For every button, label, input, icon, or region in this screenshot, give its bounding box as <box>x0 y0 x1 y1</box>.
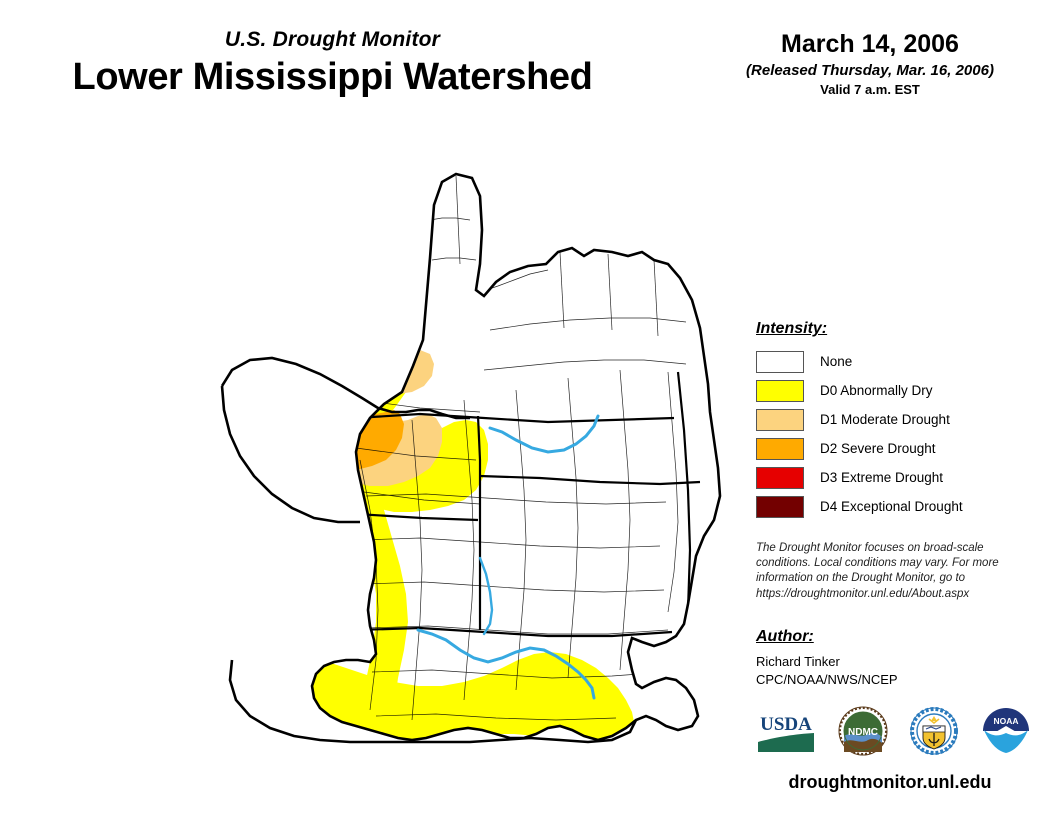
swatch-d0 <box>756 380 804 402</box>
noaa-logo[interactable]: NOAA <box>981 706 1031 761</box>
author-affiliation: CPC/NOAA/NWS/NCEP <box>756 671 1018 689</box>
legend-title: Intensity: <box>756 320 1026 338</box>
d4-region <box>226 370 256 418</box>
footer-url[interactable]: droughtmonitor.unl.edu <box>740 772 1040 793</box>
legend-label-none: None <box>820 354 852 369</box>
header-right: March 14, 2006 (Released Thursday, Mar. … <box>700 30 1040 97</box>
author-block: Author: Richard Tinker CPC/NOAA/NWS/NCEP <box>756 628 1018 688</box>
drought-monitor-page: U.S. Drought Monitor Lower Mississippi W… <box>0 0 1056 816</box>
svg-text:NOAA: NOAA <box>993 716 1018 726</box>
author-title: Author: <box>756 628 1018 646</box>
swatch-d4 <box>756 496 804 518</box>
swatch-d2 <box>756 438 804 460</box>
header-subtitle: U.S. Drought Monitor <box>0 28 665 52</box>
western-lobe-outline-south <box>222 386 360 522</box>
legend-label-d3: D3 Extreme Drought <box>820 470 943 485</box>
legend-item-none[interactable]: None <box>756 347 1026 376</box>
partner-logos: USDA NDMC <box>756 704 1031 762</box>
legend-item-d3[interactable]: D3 Extreme Drought <box>756 463 1026 492</box>
release-date: (Released Thursday, Mar. 16, 2006) <box>700 62 1040 79</box>
header-left: U.S. Drought Monitor Lower Mississippi W… <box>0 28 665 99</box>
legend-label-d0: D0 Abnormally Dry <box>820 383 933 398</box>
swatch-d1 <box>756 409 804 431</box>
swatch-d3 <box>756 467 804 489</box>
legend-item-d1[interactable]: D1 Moderate Drought <box>756 405 1026 434</box>
usda-logo[interactable]: USDA <box>756 708 816 759</box>
map-date: March 14, 2006 <box>700 30 1040 59</box>
legend-label-d2: D2 Severe Drought <box>820 441 936 456</box>
valid-time: Valid 7 a.m. EST <box>700 82 1040 97</box>
legend-label-d4: D4 Exceptional Drought <box>820 499 963 514</box>
svg-text:NDMC: NDMC <box>848 727 878 738</box>
legend-item-d0[interactable]: D0 Abnormally Dry <box>756 376 1026 405</box>
svg-text:USDA: USDA <box>760 714 812 735</box>
legend-item-d2[interactable]: D2 Severe Drought <box>756 434 1026 463</box>
d3-region <box>222 360 282 460</box>
drought-map[interactable] <box>180 160 740 800</box>
page-title: Lower Mississippi Watershed <box>0 56 665 99</box>
legend-item-d4[interactable]: D4 Exceptional Drought <box>756 492 1026 521</box>
ndmc-logo[interactable]: NDMC <box>838 706 888 761</box>
intensity-legend: Intensity: None D0 Abnormally Dry D1 Mod… <box>756 320 1026 521</box>
disclaimer-text: The Drought Monitor focuses on broad-sca… <box>756 541 1018 602</box>
swatch-none <box>756 351 804 373</box>
legend-label-d1: D1 Moderate Drought <box>820 412 950 427</box>
author-name: Richard Tinker <box>756 653 1018 671</box>
usda-seal-logo[interactable] <box>909 706 959 761</box>
